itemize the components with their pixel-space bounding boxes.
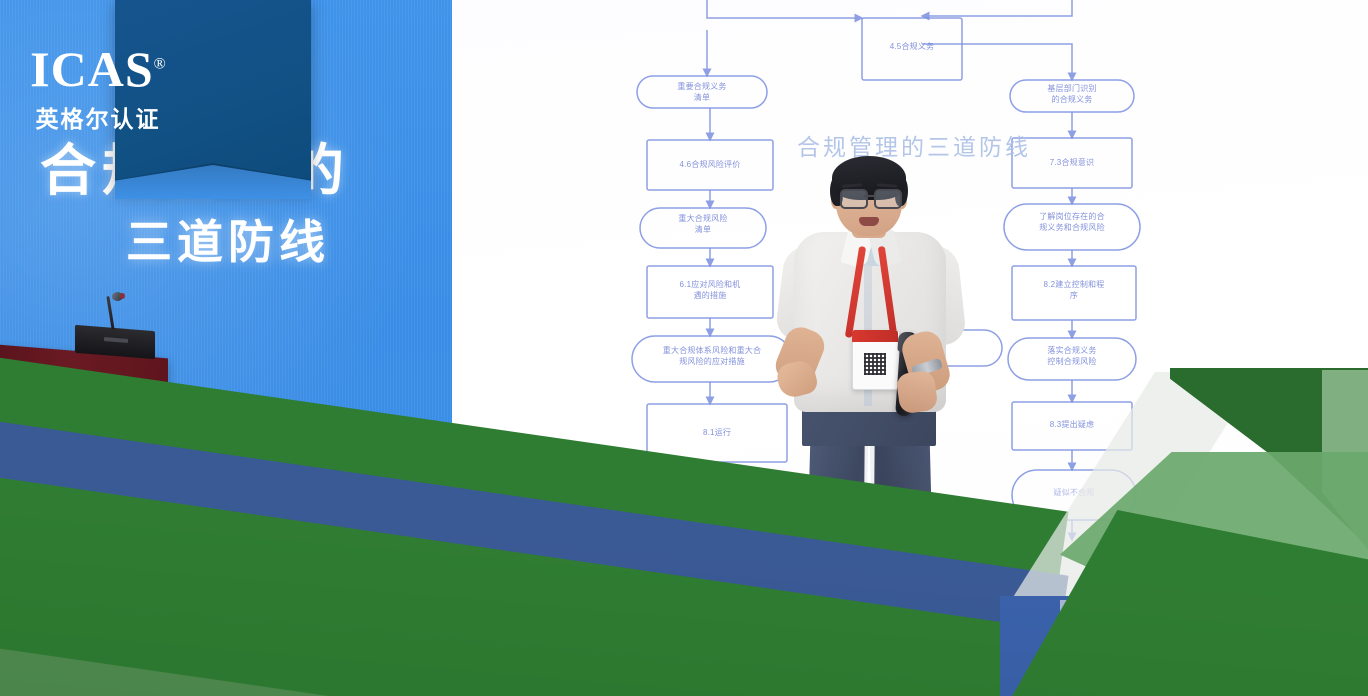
glasses-icon xyxy=(840,189,868,209)
glasses-lens-right xyxy=(874,189,902,209)
qr-code-icon xyxy=(864,353,886,375)
icas-subtitle: 英格尔认证 xyxy=(0,100,196,134)
podium-microphone-tip xyxy=(120,293,125,299)
speaker-badge-header xyxy=(852,330,898,342)
glasses-bridge xyxy=(864,195,874,197)
icas-wordmark: ICAS xyxy=(30,41,153,97)
conference-stage-photo: 合规管理的 三道防线 ICAS® 英格尔认证 xyxy=(0,0,1368,696)
speaker-mouth xyxy=(859,217,879,226)
speaker-hand-right xyxy=(895,370,938,415)
icas-logo-text: ICAS® xyxy=(0,44,196,94)
registered-mark-icon: ® xyxy=(154,55,166,72)
wall-title-bottom: 三道防线 xyxy=(126,206,456,272)
